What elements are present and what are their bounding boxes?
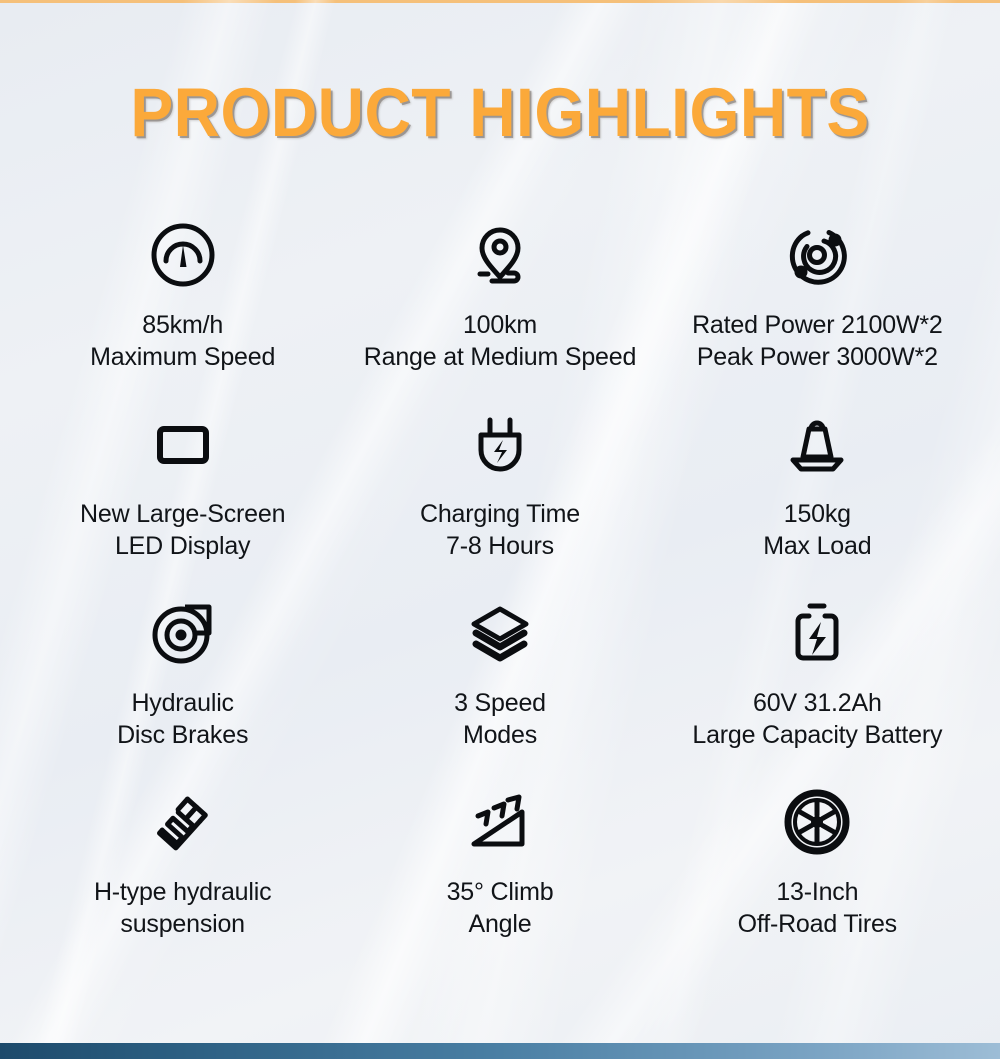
feature-line1: H-type hydraulic bbox=[94, 878, 271, 906]
map-pin-route-icon bbox=[464, 213, 536, 297]
feature-grid: 85km/h Maximum Speed 100km Range at Medi… bbox=[0, 213, 1000, 969]
tire-wheel-icon bbox=[781, 780, 853, 864]
orbit-power-icon bbox=[781, 213, 853, 297]
disc-brake-icon bbox=[147, 591, 219, 675]
feature-line1: 100km bbox=[463, 311, 537, 339]
feature-labels: 150kg Max Load bbox=[763, 498, 871, 562]
feature-line1: Charging Time bbox=[420, 500, 580, 528]
feature-item: Rated Power 2100W*2 Peak Power 3000W*2 bbox=[659, 213, 976, 402]
layers-stack-icon bbox=[464, 591, 536, 675]
feature-line1: 13-Inch bbox=[776, 878, 858, 906]
feature-labels: Rated Power 2100W*2 Peak Power 3000W*2 bbox=[692, 309, 943, 373]
feature-labels: 13-Inch Off-Road Tires bbox=[738, 876, 897, 940]
feature-item: H-type hydraulic suspension bbox=[24, 780, 341, 969]
feature-line1: New Large-Screen bbox=[80, 500, 285, 528]
feature-line1: 60V 31.2Ah bbox=[753, 689, 882, 717]
feature-item: 85km/h Maximum Speed bbox=[24, 213, 341, 402]
feature-line2: 7-8 Hours bbox=[420, 530, 580, 562]
feature-line2: suspension bbox=[94, 908, 271, 940]
page-title: PRODUCT HIGHLIGHTS bbox=[35, 0, 965, 147]
feature-labels: Hydraulic Disc Brakes bbox=[117, 687, 248, 751]
feature-item: 150kg Max Load bbox=[659, 402, 976, 591]
feature-labels: 35° Climb Angle bbox=[447, 876, 554, 940]
bottom-accent-bar bbox=[0, 1043, 1000, 1059]
feature-line2: Off-Road Tires bbox=[738, 908, 897, 940]
feature-line2: Disc Brakes bbox=[117, 719, 248, 751]
speedometer-icon bbox=[147, 213, 219, 297]
feature-line2: Maximum Speed bbox=[90, 341, 275, 373]
climb-slope-icon bbox=[464, 780, 536, 864]
feature-item: 100km Range at Medium Speed bbox=[341, 213, 658, 402]
feature-labels: 60V 31.2Ah Large Capacity Battery bbox=[692, 687, 942, 751]
display-screen-icon bbox=[147, 402, 219, 486]
feature-labels: H-type hydraulic suspension bbox=[94, 876, 271, 940]
feature-labels: Charging Time 7-8 Hours bbox=[420, 498, 580, 562]
suspension-shock-icon bbox=[147, 780, 219, 864]
feature-line2: Large Capacity Battery bbox=[692, 719, 942, 751]
feature-line1: 3 Speed bbox=[454, 689, 546, 717]
feature-line2: Peak Power 3000W*2 bbox=[692, 341, 943, 373]
feature-line1: Hydraulic bbox=[131, 689, 233, 717]
feature-item: 3 Speed Modes bbox=[341, 591, 658, 780]
feature-item: 60V 31.2Ah Large Capacity Battery bbox=[659, 591, 976, 780]
feature-line2: Angle bbox=[447, 908, 554, 940]
feature-line2: LED Display bbox=[80, 530, 285, 562]
feature-labels: 85km/h Maximum Speed bbox=[90, 309, 275, 373]
feature-item: New Large-Screen LED Display bbox=[24, 402, 341, 591]
feature-line1: 35° Climb bbox=[447, 878, 554, 906]
feature-line2: Max Load bbox=[763, 530, 871, 562]
feature-line2: Modes bbox=[454, 719, 546, 751]
feature-labels: 100km Range at Medium Speed bbox=[364, 309, 636, 373]
battery-bolt-icon bbox=[781, 591, 853, 675]
feature-line1: Rated Power 2100W*2 bbox=[692, 311, 943, 339]
feature-item: Hydraulic Disc Brakes bbox=[24, 591, 341, 780]
charging-plug-icon bbox=[464, 402, 536, 486]
feature-item: 35° Climb Angle bbox=[341, 780, 658, 969]
feature-labels: 3 Speed Modes bbox=[454, 687, 546, 751]
feature-line1: 85km/h bbox=[142, 311, 223, 339]
feature-item: Charging Time 7-8 Hours bbox=[341, 402, 658, 591]
feature-labels: New Large-Screen LED Display bbox=[80, 498, 285, 562]
feature-line2: Range at Medium Speed bbox=[364, 341, 636, 373]
product-highlights-page: PRODUCT HIGHLIGHTS 85km/h Maximum Speed bbox=[0, 0, 1000, 1059]
weight-scale-icon bbox=[781, 402, 853, 486]
feature-line1: 150kg bbox=[784, 500, 851, 528]
feature-item: 13-Inch Off-Road Tires bbox=[659, 780, 976, 969]
